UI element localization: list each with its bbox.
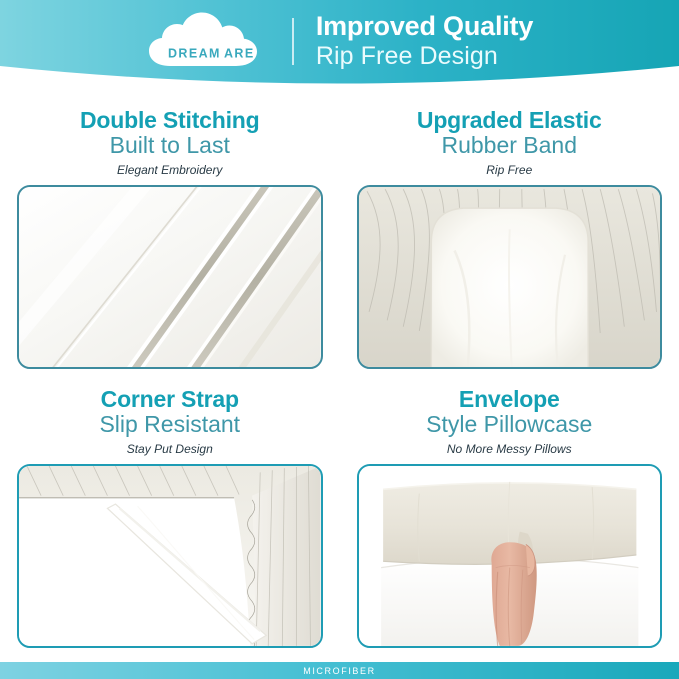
svg-text:ARE: ARE [224,47,255,61]
brand-logo: DREAM ARE [146,10,270,72]
feature-caption: Stay Put Design [127,442,213,456]
header-divider [292,18,294,65]
header-text-block: Improved Quality Rip Free Design [316,13,533,69]
upgraded-elastic-photo [357,185,663,369]
header-subtitle: Rip Free Design [316,44,533,69]
cloud-logo-icon: DREAM ARE [146,10,270,72]
feature-card-envelope-pillowcase: Envelope Style Pillowcase No More Messy … [340,379,679,658]
envelope-pillowcase-photo [357,464,663,648]
upgraded-elastic-illustration [359,187,661,367]
page-footer: MICROFIBER [0,662,679,679]
envelope-pillowcase-illustration [359,466,661,646]
feature-card-upgraded-elastic: Upgraded Elastic Rubber Band Rip Free [340,100,679,379]
double-stitching-photo [17,185,323,369]
feature-heading: Envelope [459,387,560,411]
feature-caption: Elegant Embroidery [117,163,222,177]
page-header: DREAM ARE Improved Quality Rip Free Desi… [0,0,679,95]
header-title: Improved Quality [316,13,533,40]
feature-heading: Corner Strap [101,387,239,411]
feature-subheading: Slip Resistant [99,412,240,437]
feature-card-double-stitching: Double Stitching Built to Last Elegant E… [0,100,340,379]
corner-strap-illustration [19,466,321,646]
header-content: DREAM ARE Improved Quality Rip Free Desi… [0,0,679,82]
feature-grid: Double Stitching Built to Last Elegant E… [0,100,679,658]
feature-caption: Rip Free [486,163,532,177]
feature-heading: Upgraded Elastic [417,108,602,132]
feature-caption: No More Messy Pillows [447,442,572,456]
svg-text:DREAM: DREAM [168,47,221,61]
double-stitching-illustration [19,187,321,367]
feature-card-corner-strap: Corner Strap Slip Resistant Stay Put Des… [0,379,340,658]
feature-subheading: Style Pillowcase [426,412,592,437]
feature-subheading: Rubber Band [441,133,577,158]
feature-subheading: Built to Last [110,133,230,158]
footer-label: MICROFIBER [303,666,376,676]
feature-heading: Double Stitching [80,108,260,132]
corner-strap-photo [17,464,323,648]
